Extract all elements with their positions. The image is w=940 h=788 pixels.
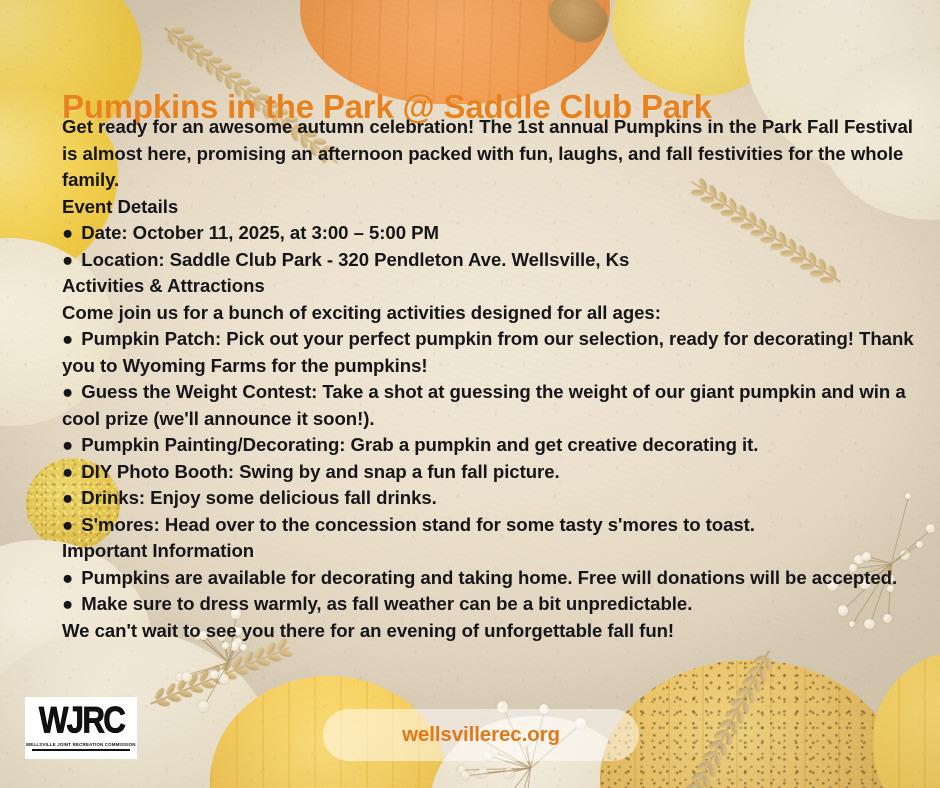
logo-letter-j: J: [66, 701, 82, 742]
flyer-line-text: Drinks: Enjoy some delicious fall drinks…: [76, 487, 437, 508]
logo-wordmark: WJRC: [38, 703, 123, 740]
flyer-line-date: ● Date: October 11, 2025, at 3:00 – 5:00…: [62, 220, 918, 247]
wjrc-logo: WJRC WELLSVILLE JOINT RECREATION COMMISS…: [25, 697, 137, 759]
logo-underline: [32, 749, 130, 750]
flyer-line-pumpkin-painting: ● Pumpkin Painting/Decorating: Grab a pu…: [62, 432, 918, 459]
logo-letter-w: W: [38, 701, 66, 742]
flyer-line-text: Pumpkin Painting/Decorating: Grab a pump…: [76, 434, 758, 455]
bullet-icon: ●: [62, 432, 73, 459]
flyer-line-location: ● Location: Saddle Club Park - 320 Pendl…: [62, 247, 918, 274]
flyer-line-text: Event Details: [62, 196, 178, 217]
bullet-icon: ●: [62, 591, 73, 618]
flyer-line-text: Pumpkin Patch: Pick out your perfect pum…: [62, 328, 914, 376]
flyer-line-important-heading: Important Information: [62, 538, 918, 565]
flyer-body: Get ready for an awesome autumn celebrat…: [62, 114, 918, 644]
flyer-line-text: Make sure to dress warmly, as fall weath…: [76, 593, 692, 614]
flyer-line-text: Pumpkins are available for decorating an…: [76, 567, 897, 588]
flyer-content: Pumpkins in the Park @ Saddle Club Park …: [0, 0, 940, 788]
flyer-line-activities-intro: Come join us for a bunch of exciting act…: [62, 300, 918, 327]
flyer-line-intro: Get ready for an awesome autumn celebrat…: [62, 114, 918, 194]
flyer-line-text: Location: Saddle Club Park - 320 Pendlet…: [76, 249, 629, 270]
flyer-line-pumpkin-patch: ● Pumpkin Patch: Pick out your perfect p…: [62, 326, 918, 379]
website-url-text: wellsvillerec.org: [402, 723, 560, 747]
bullet-icon: ●: [62, 326, 73, 353]
flyer-line-text: Important Information: [62, 540, 254, 561]
flyer-line-activities-heading: Activities & Attractions: [62, 273, 918, 300]
flyer-line-text: S'mores: Head over to the concession sta…: [76, 514, 755, 535]
flyer-line-text: Activities & Attractions: [62, 275, 265, 296]
flyer-line-closing: We can't wait to see you there for an ev…: [62, 618, 918, 645]
bullet-icon: ●: [62, 379, 73, 406]
website-url-pill[interactable]: wellsvillerec.org: [323, 709, 639, 761]
flyer-line-drinks: ● Drinks: Enjoy some delicious fall drin…: [62, 485, 918, 512]
flyer-line-text: Come join us for a bunch of exciting act…: [62, 302, 661, 323]
flyer-line-text: Get ready for an awesome autumn celebrat…: [62, 116, 913, 190]
flyer-line-text: We can't wait to see you there for an ev…: [62, 620, 674, 641]
flyer-line-donations: ● Pumpkins are available for decorating …: [62, 565, 918, 592]
flyer-line-photo-booth: ● DIY Photo Booth: Swing by and snap a f…: [62, 459, 918, 486]
flyer-line-text: Date: October 11, 2025, at 3:00 – 5:00 P…: [76, 222, 439, 243]
logo-letters-rc: RC: [82, 701, 124, 742]
flyer-line-text: DIY Photo Booth: Swing by and snap a fun…: [76, 461, 559, 482]
flyer-line-guess-weight: ● Guess the Weight Contest: Take a shot …: [62, 379, 918, 432]
bullet-icon: ●: [62, 512, 73, 539]
bullet-icon: ●: [62, 485, 73, 512]
flyer-line-dress-warm: ● Make sure to dress warmly, as fall wea…: [62, 591, 918, 618]
bullet-icon: ●: [62, 247, 73, 274]
bullet-icon: ●: [62, 459, 73, 486]
bullet-icon: ●: [62, 220, 73, 247]
flyer-canvas: Pumpkins in the Park @ Saddle Club Park …: [0, 0, 940, 788]
logo-subtitle: WELLSVILLE JOINT RECREATION COMMISSION: [26, 743, 136, 747]
bullet-icon: ●: [62, 565, 73, 592]
flyer-line-text: Guess the Weight Contest: Take a shot at…: [62, 381, 906, 429]
flyer-line-smores: ● S'mores: Head over to the concession s…: [62, 512, 918, 539]
flyer-line-event-details-heading: Event Details: [62, 194, 918, 221]
